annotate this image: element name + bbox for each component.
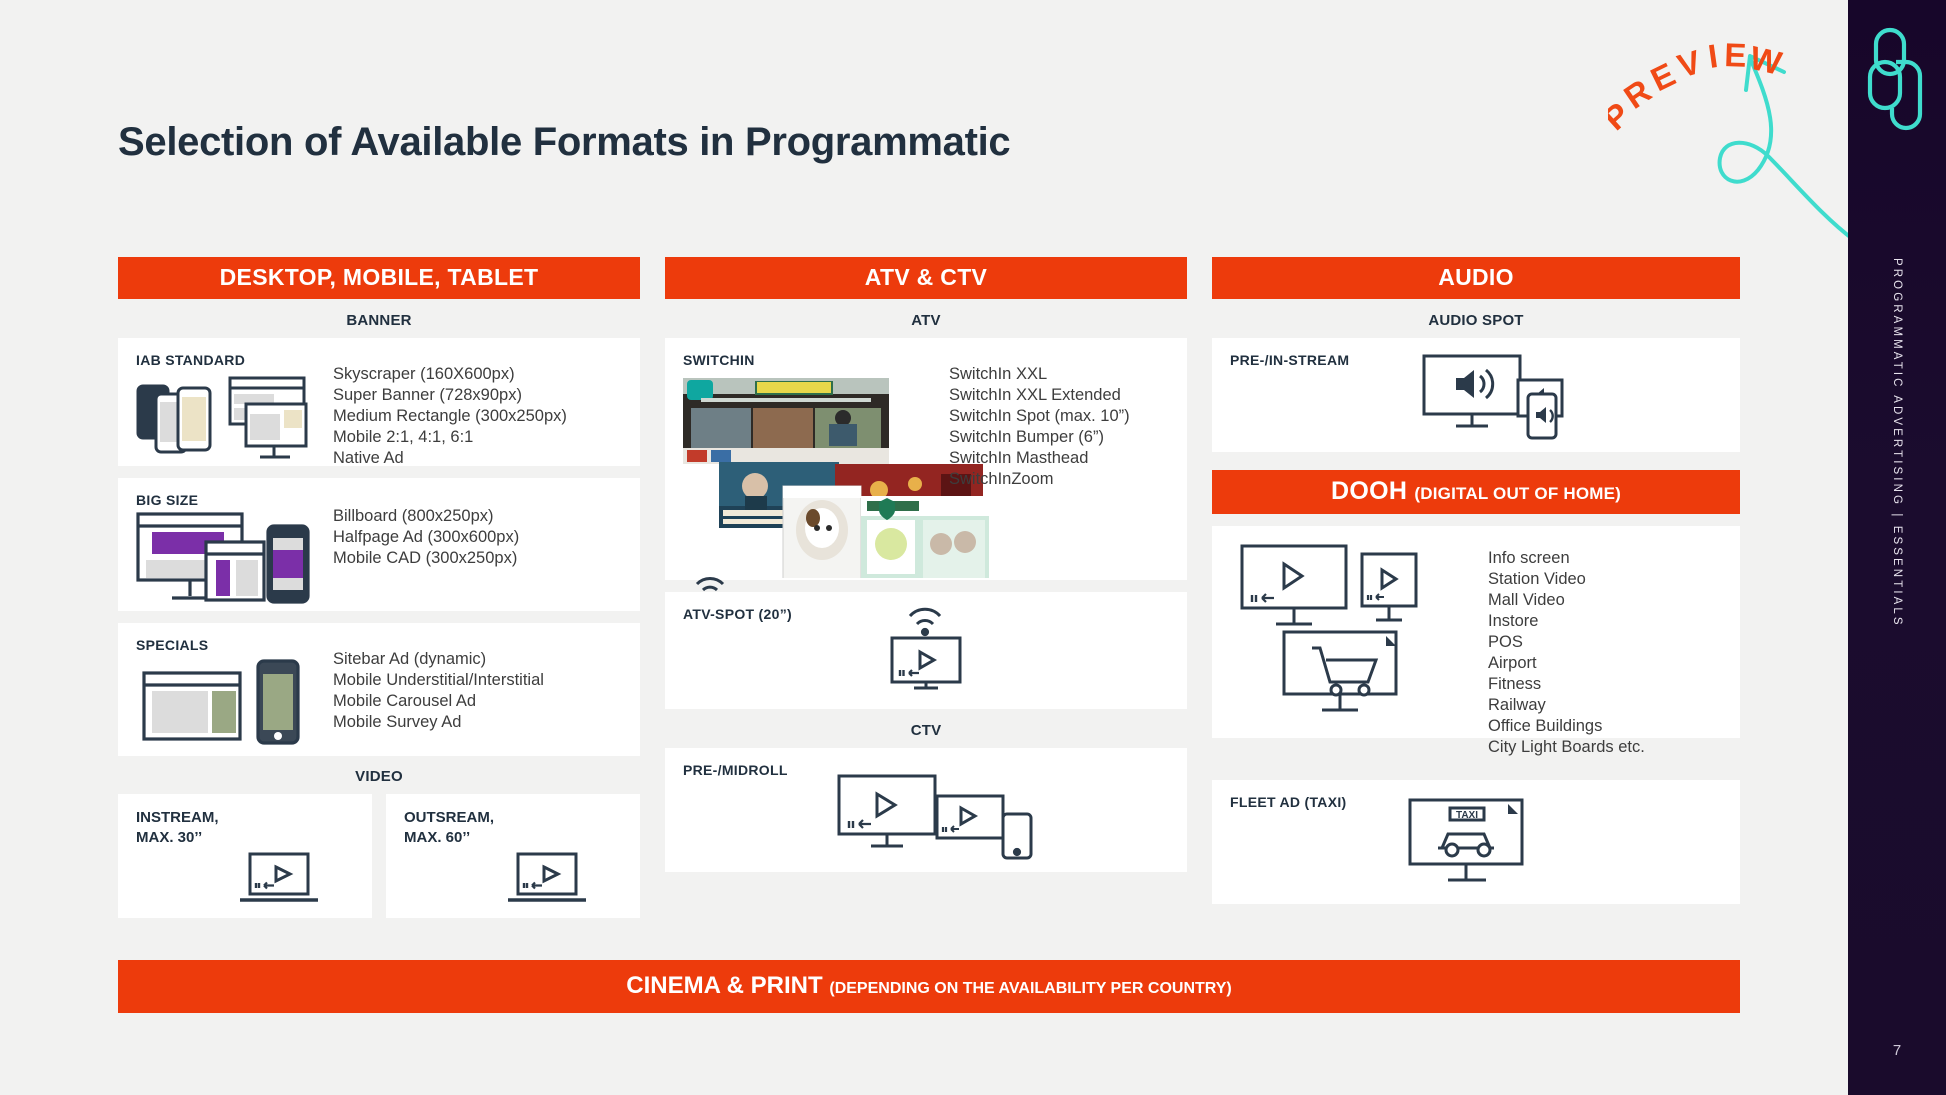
list-item: City Light Boards etc. [1488,737,1645,758]
taxi-screen-icon: TAXI [1404,794,1534,888]
dooh-list: Info screen Station Video Mall Video Ins… [1488,548,1645,758]
svg-text:V: V [1673,43,1705,85]
audio-devices-icon [1418,350,1578,440]
band-cinema-print-sub: (DEPENDING ON THE AVAILABILITY PER COUNT… [829,980,1231,997]
big-size-list: Billboard (800x250px) Halfpage Ad (300x6… [333,506,519,569]
card-title-instream: INSTREAM, MAX. 30’’ [136,808,354,849]
list-item: SwitchIn Bumper (6”) [949,427,1130,448]
list-item: POS [1488,632,1645,653]
list-item: Mobile CAD (300x250px) [333,548,519,569]
svg-text:R: R [1617,72,1658,116]
page-title: Selection of Available Formats in Progra… [118,120,1010,165]
card-iab-standard[interactable]: IAB STANDARD [118,338,640,466]
svg-text:E: E [1724,36,1747,74]
card-pre-in-stream[interactable]: PRE-/IN-STREAM [1212,338,1740,452]
brand-logo [1866,26,1928,136]
section-label-ctv: CTV [665,722,1187,739]
section-label-atv: ATV [665,312,1187,329]
card-dooh[interactable]: Info screen Station Video Mall Video Ins… [1212,526,1740,738]
video-card-row: INSTREAM, MAX. 30’’ [118,794,640,918]
list-item: Skyscraper (160X600px) [333,364,567,385]
list-item: Super Banner (728x90px) [333,385,567,406]
list-item: Office Buildings [1488,716,1645,737]
section-label-banner: BANNER [118,312,640,329]
card-instream[interactable]: INSTREAM, MAX. 30’’ [118,794,372,918]
band-cinema-print: CINEMA & PRINT (DEPENDING ON THE AVAILAB… [118,960,1740,1013]
list-item: Sitebar Ad (dynamic) [333,649,544,670]
dooh-screens-icon [1236,540,1484,718]
svg-text:E: E [1645,55,1681,98]
sidebar-vertical-label: PROGRAMMATIC ADVERTISING | ESSENTIALS [1891,258,1903,628]
laptop-play-icon [504,850,590,908]
band-dooh-sub: (DIGITAL OUT OF HOME) [1414,484,1621,503]
svg-text:W: W [1746,39,1786,82]
list-item: Medium Rectangle (300x250px) [333,406,567,427]
list-item: SwitchIn XXL Extended [949,385,1130,406]
list-item: Mobile Carousel Ad [333,691,544,712]
list-item: Fitness [1488,674,1645,695]
instream-line1: INSTREAM, [136,808,354,828]
right-sidebar: PROGRAMMATIC ADVERTISING | ESSENTIALS 7 [1848,0,1946,1095]
list-item: SwitchInZoom [949,469,1130,490]
column-atv-ctv: ATV & CTV ATV SWITCHIN [665,257,1187,884]
instream-line2: MAX. 30’’ [136,828,354,848]
card-atv-spot[interactable]: ATV-SPOT (20”) [665,592,1187,709]
card-switchin[interactable]: SWITCHIN [665,338,1187,580]
atv-spot-tv-icon [880,604,972,692]
list-item: Station Video [1488,569,1645,590]
list-item: Airport [1488,653,1645,674]
svg-text:I: I [1706,37,1720,75]
card-specials[interactable]: SPECIALS Sitebar Ad (dynamic) Mo [118,623,640,756]
column-desktop-mobile-tablet: DESKTOP, MOBILE, TABLET BANNER IAB STAND… [118,257,640,918]
list-item: Instore [1488,611,1645,632]
page-number: 7 [1893,1042,1901,1059]
list-item: Mobile 2:1, 4:1, 6:1 [333,427,567,448]
iab-standard-list: Skyscraper (160X600px) Super Banner (728… [333,364,567,469]
list-item: SwitchIn XXL [949,364,1130,385]
list-item: SwitchIn Spot (max. 10”) [949,406,1130,427]
big-size-art [134,508,314,604]
svg-text:P: P [1608,95,1637,137]
switchin-list: SwitchIn XXL SwitchIn XXL Extended Switc… [949,364,1130,490]
list-item: Mobile Survey Ad [333,712,544,733]
list-item: Halfpage Ad (300x600px) [333,527,519,548]
taxi-label: TAXI [1456,810,1478,821]
band-cinema-print-main: CINEMA & PRINT [626,972,822,999]
band-atv-ctv: ATV & CTV [665,257,1187,299]
laptop-play-icon [236,850,322,908]
card-fleet-ad[interactable]: FLEET AD (TAXI) TAXI [1212,780,1740,904]
outstream-line2: MAX. 60’’ [404,828,622,848]
specials-list: Sitebar Ad (dynamic) Mobile Understitial… [333,649,544,733]
card-big-size[interactable]: BIG SIZE [118,478,640,611]
band-dooh-main: DOOH [1331,477,1407,505]
outstream-line1: OUTSREAM, [404,808,622,828]
list-item: Native Ad [333,448,567,469]
card-pre-midroll[interactable]: PRE-/MIDROLL [665,748,1187,872]
slide-root: Selection of Available Formats in Progra… [0,0,1946,1095]
band-dooh: DOOH (DIGITAL OUT OF HOME) [1212,470,1740,514]
column-audio-dooh: AUDIO AUDIO SPOT PRE-/IN-STREAM [1212,257,1740,916]
section-label-audio-spot: AUDIO SPOT [1212,312,1740,329]
list-item: Info screen [1488,548,1645,569]
section-label-video: VIDEO [118,768,640,785]
list-item: Railway [1488,695,1645,716]
card-outstream[interactable]: OUTSREAM, MAX. 60’’ [386,794,640,918]
iab-standard-art [134,370,324,462]
list-item: Billboard (800x250px) [333,506,519,527]
list-item: SwitchIn Masthead [949,448,1130,469]
list-item: Mall Video [1488,590,1645,611]
band-audio: AUDIO [1212,257,1740,299]
ctv-devices-icon [833,770,1049,862]
list-item: Mobile Understitial/Interstitial [333,670,544,691]
band-desktop-mobile-tablet: DESKTOP, MOBILE, TABLET [118,257,640,299]
card-title-outstream: OUTSREAM, MAX. 60’’ [404,808,622,849]
specials-art [140,657,310,745]
